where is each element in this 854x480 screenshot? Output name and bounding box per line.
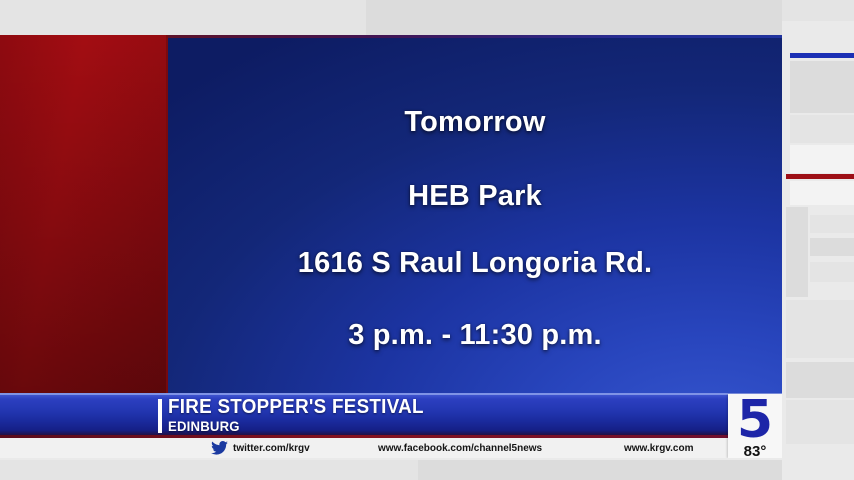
- slide-time: 3 p.m. - 11:30 p.m.: [168, 320, 782, 350]
- bg-block-right-5: [786, 207, 808, 297]
- ticker-twitter-handle[interactable]: twitter.com/krgv: [233, 443, 310, 454]
- lower-third-location: EDINBURG: [168, 418, 240, 434]
- bg-block-right-9: [786, 300, 854, 358]
- bg-block-right-11: [786, 400, 854, 444]
- bg-block-topright: [782, 0, 854, 21]
- social-ticker: twitter.com/krgv www.facebook.com/channe…: [0, 438, 782, 458]
- bg-block-topmid: [366, 0, 782, 35]
- ticker-website-url[interactable]: www.krgv.com: [624, 443, 693, 454]
- bg-block-right-4: [790, 181, 854, 205]
- bg-rule-red: [786, 174, 854, 179]
- slide-day: Tomorrow: [168, 107, 782, 137]
- bg-block-right-8: [810, 262, 854, 282]
- lower-third-banner: FIRE STOPPER'S FESTIVAL EDINBURG: [0, 393, 782, 435]
- bg-block-right-10: [786, 362, 854, 398]
- lower-third-headline: FIRE STOPPER'S FESTIVAL: [168, 396, 424, 419]
- bg-block-right-2: [790, 115, 854, 143]
- lower-third-divider: [158, 399, 162, 433]
- temperature-readout: 83°: [744, 444, 767, 458]
- bg-block-right-7: [810, 238, 854, 256]
- bg-block-bottomleft: [0, 460, 418, 480]
- channel-number-logo: 5: [737, 396, 773, 445]
- bg-block-bottommid: [418, 460, 782, 480]
- bg-rule-blue: [790, 53, 854, 58]
- video-player[interactable]: Tomorrow HEB Park 1616 S Raul Longoria R…: [0, 35, 782, 458]
- bg-block-right-3: [790, 145, 854, 173]
- slide-address: 1616 S Raul Longoria Rd.: [168, 248, 782, 278]
- slide-venue: HEB Park: [168, 181, 782, 211]
- ticker-facebook-url[interactable]: www.facebook.com/channel5news: [378, 443, 542, 454]
- bg-block-topleft: [0, 0, 366, 35]
- twitter-bird-icon: [211, 441, 228, 455]
- station-logo-box: 5 83°: [728, 394, 782, 458]
- bg-block-right-1: [790, 61, 854, 113]
- bg-block-right-6: [810, 215, 854, 233]
